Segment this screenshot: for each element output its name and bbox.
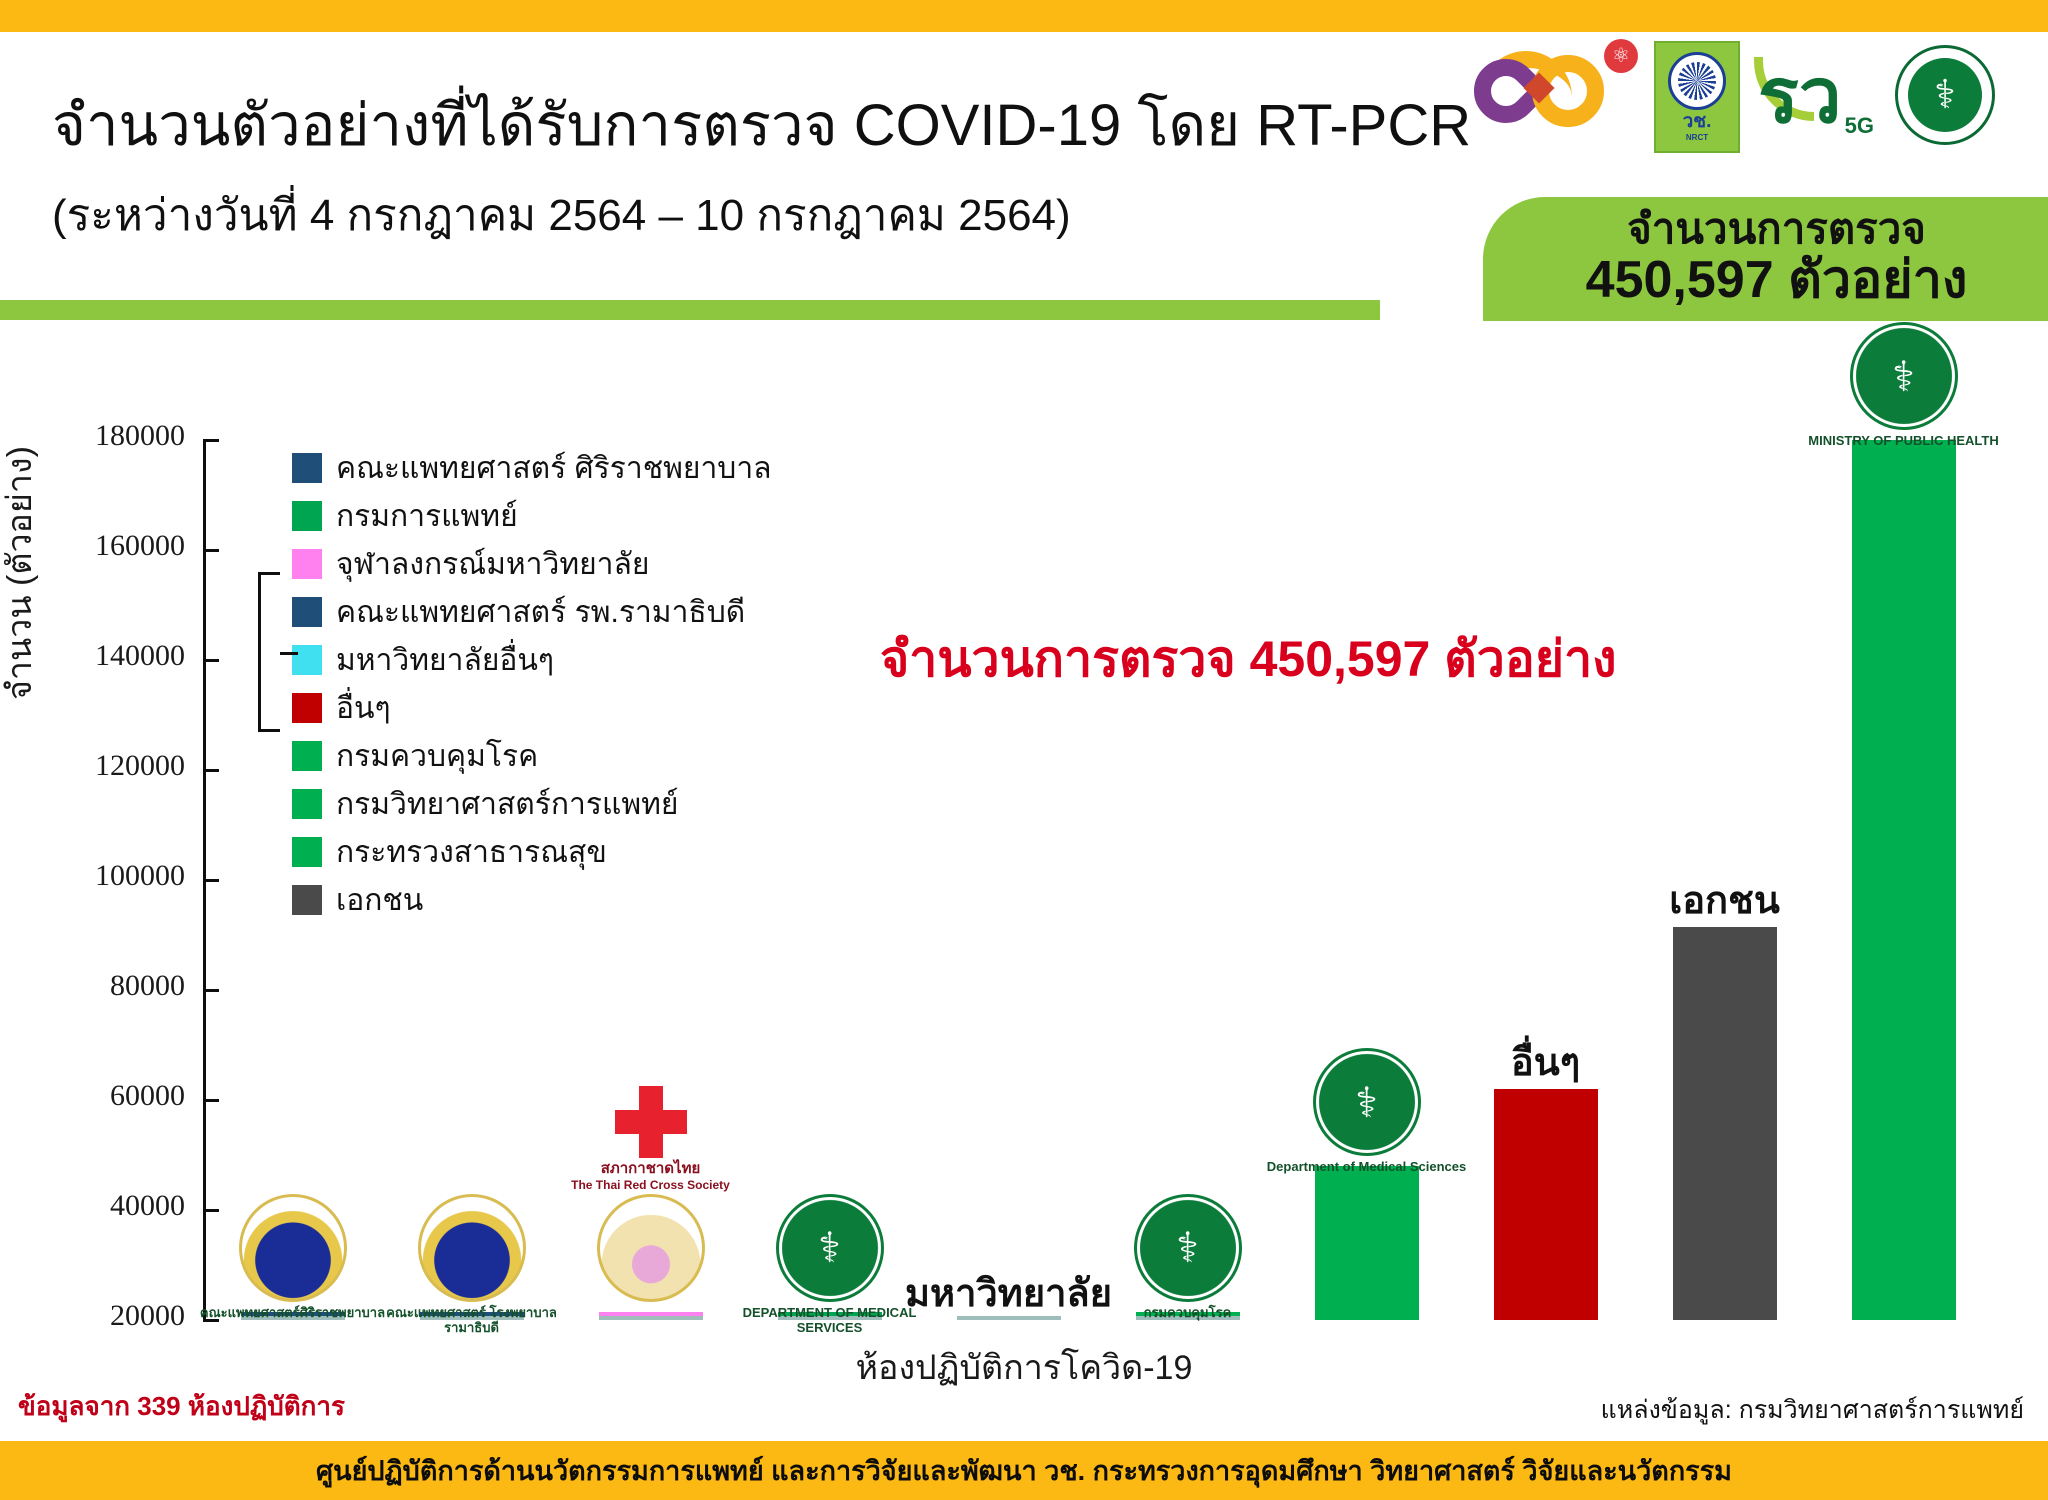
red-cross-icon — [615, 1086, 687, 1158]
nrct-label: วช. — [1683, 112, 1712, 131]
page-subtitle: (ระหว่างวันที่ 4 กรกฎาคม 2564 – 10 กรกฎา… — [52, 180, 1071, 250]
ramathibodi-seal-caption: คณะแพทยศาสตร์ โรงพยาบาลรามาธิบดี — [362, 1306, 582, 1336]
legend-item-label: เอกชน — [336, 877, 423, 924]
ddc-seal-caption: กรมควบคุมโรค — [1078, 1306, 1298, 1321]
green-divider-band — [0, 300, 1380, 320]
total-tests-badge: จำนวนการตรวจ 450,597 ตัวอย่าง — [1483, 197, 2048, 321]
legend-item-8[interactable]: กระทรวงสาธารณสุข — [292, 832, 772, 872]
others-bar-label: อื่นๆ — [1396, 1031, 1696, 1092]
chart-legend: คณะแพทยศาสตร์ ศิริราชพยาบาลกรมการแพทย์จุ… — [292, 448, 772, 920]
5g-swirl-shape: รว — [1758, 59, 1842, 135]
legend-item-7[interactable]: กรมวิทยาศาสตร์การแพทย์ — [292, 784, 772, 824]
slide-root: จำนวนตัวอย่างที่ได้รับการตรวจ COVID-19 โ… — [0, 0, 2048, 1500]
nrct-logo: วช. NRCT — [1654, 41, 1740, 153]
legend-swatch-icon — [292, 501, 322, 531]
header-logo-strip: ⚛ วช. NRCT รว 5G ⚕ — [1470, 32, 2048, 162]
legend-item-label: อื่นๆ — [336, 685, 391, 732]
moph-seal-caption: MINISTRY OF PUBLIC HEALTH — [1794, 434, 2014, 449]
legend-item-label: กรมวิทยาศาสตร์การแพทย์ — [336, 781, 678, 828]
siriraj-seal-icon — [239, 1194, 347, 1302]
legend-swatch-icon — [292, 741, 322, 771]
dmsc-seal-caption: Department of Medical Sciences — [1257, 1160, 1477, 1175]
thai-red-cross-caption-thai: สภากาชาดไทย — [541, 1160, 761, 1178]
legend-item-label: มหาวิทยาลัยอื่นๆ — [336, 637, 554, 684]
legend-item-9[interactable]: เอกชน — [292, 880, 772, 920]
moph-bar — [1852, 440, 1956, 1320]
private-bar-label: เอกชน — [1575, 869, 1875, 930]
legend-item-5[interactable]: อื่นๆ — [292, 688, 772, 728]
5g-label: 5G — [1845, 113, 1874, 139]
legend-item-label: กรมควบคุมโรค — [336, 733, 538, 780]
nrct-sublabel: NRCT — [1686, 133, 1708, 142]
legend-item-label: คณะแพทยศาสตร์ ศิริราชพยาบาล — [336, 445, 772, 492]
legend-group-bracket — [258, 572, 280, 732]
others-bar — [1494, 1089, 1598, 1320]
ddc-seal-icon: ⚕ — [1134, 1194, 1242, 1302]
thai-red-cross-caption: สภากาชาดไทยThe Thai Red Cross Society — [541, 1160, 761, 1192]
legend-item-6[interactable]: กรมควบคุมโรค — [292, 736, 772, 776]
y-axis-tick-label: 60000 — [0, 1079, 185, 1113]
y-axis-tick-label: 100000 — [0, 859, 185, 893]
legend-item-0[interactable]: คณะแพทยศาสตร์ ศิริราชพยาบาล — [292, 448, 772, 488]
y-axis-tick-label: 80000 — [0, 969, 185, 1003]
legend-item-2[interactable]: จุฬาลงกรณ์มหาวิทยาลัย — [292, 544, 772, 584]
legend-swatch-icon — [292, 549, 322, 579]
legend-swatch-icon — [292, 597, 322, 627]
atom-icon: ⚛ — [1604, 39, 1638, 73]
chula-seal-icon — [597, 1194, 705, 1302]
legend-item-label: จุฬาลงกรณ์มหาวิทยาลัย — [336, 541, 649, 588]
caduceus-icon: ⚕ — [1908, 58, 1982, 132]
5g-logo: รว 5G — [1752, 41, 1878, 153]
y-axis-tick-label: 120000 — [0, 749, 185, 783]
legend-swatch-icon — [292, 693, 322, 723]
legend-swatch-icon — [292, 453, 322, 483]
y-axis-title: จำนวน (ตัวอย่าง) — [0, 446, 46, 700]
top-accent-band — [0, 0, 2048, 32]
y-axis-tick-label: 40000 — [0, 1189, 185, 1223]
ministry-of-public-health-logo: ⚕ — [1890, 41, 2000, 153]
legend-item-3[interactable]: คณะแพทยศาสตร์ รพ.รามาธิบดี — [292, 592, 772, 632]
legend-item-label: กระทรวงสาธารณสุข — [336, 829, 607, 876]
legend-item-label: คณะแพทยศาสตร์ รพ.รามาธิบดี — [336, 589, 745, 636]
bar-baseline-tick — [599, 1316, 703, 1320]
legend-swatch-icon — [292, 645, 322, 675]
moph-seal-icon: ⚕ — [1895, 45, 1995, 145]
nrct-seal-icon — [1668, 52, 1726, 110]
mhesi-50th-anniversary-logo: ⚛ — [1470, 37, 1642, 157]
data-source-note-right: แหล่งข้อมูล: กรมวิทยาศาสตร์การแพทย์ — [1601, 1390, 2024, 1430]
legend-swatch-icon — [292, 837, 322, 867]
badge-value: 450,597 ตัวอย่าง — [1539, 251, 2014, 311]
dmsc-bar — [1315, 1166, 1419, 1320]
moph-seal-icon: ⚕ — [1850, 322, 1958, 430]
legend-swatch-icon — [292, 885, 322, 915]
page-title: จำนวนตัวอย่างที่ได้รับการตรวจ COVID-19 โ… — [52, 78, 1471, 171]
legend-swatch-icon — [292, 789, 322, 819]
legend-item-4[interactable]: มหาวิทยาลัยอื่นๆ — [292, 640, 772, 680]
private-bar — [1673, 927, 1777, 1320]
thai-red-cross-caption-en: The Thai Red Cross Society — [541, 1178, 761, 1192]
legend-item-label: กรมการแพทย์ — [336, 493, 518, 540]
legend-item-1[interactable]: กรมการแพทย์ — [292, 496, 772, 536]
ramathibodi-seal-icon — [418, 1194, 526, 1302]
badge-caption: จำนวนการตรวจ — [1539, 207, 2014, 251]
y-axis-tick-label: 20000 — [0, 1299, 185, 1333]
footer-text: ศูนย์ปฏิบัติการด้านนวัตกรรมการแพทย์ และก… — [0, 1449, 2048, 1492]
data-source-note-left: ข้อมูลจาก 339 ห้องปฏิบัติการ — [18, 1386, 345, 1427]
